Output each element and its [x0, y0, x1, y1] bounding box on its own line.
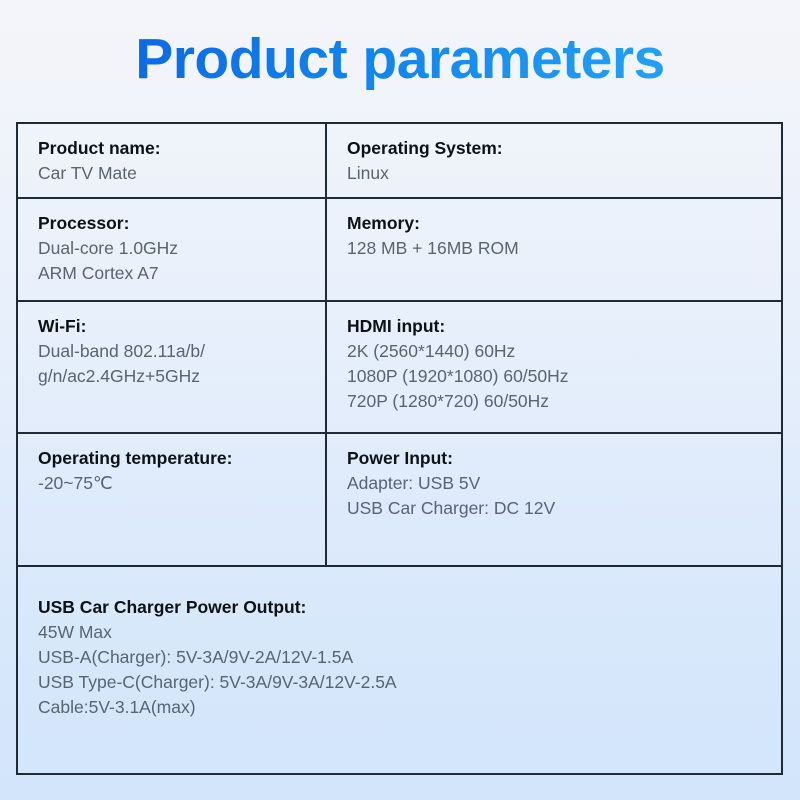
spec-value: -20~75℃ — [38, 471, 325, 496]
spec-value: Dual-core 1.0GHz — [38, 236, 325, 261]
spec-cell-hdmi-input: HDMI input: 2K (2560*1440) 60Hz 1080P (1… — [327, 302, 781, 432]
spec-cell-operating-system: Operating System: Linux — [327, 124, 781, 197]
spec-label: Operating System: — [347, 136, 781, 161]
page-title-container: Product parameters — [0, 30, 800, 90]
table-row: Processor: Dual-core 1.0GHz ARM Cortex A… — [18, 199, 781, 302]
spec-label: USB Car Charger Power Output: — [38, 595, 781, 620]
spec-cell-power-input: Power Input: Adapter: USB 5V USB Car Cha… — [327, 434, 781, 565]
page-title: Product parameters — [135, 30, 665, 90]
spec-value: Cable:5V-3.1A(max) — [38, 695, 781, 720]
spec-value: USB Type-C(Charger): 5V-3A/9V-3A/12V-2.5… — [38, 670, 781, 695]
spec-value: Dual-band 802.11a/b/ — [38, 339, 325, 364]
spec-value: 45W Max — [38, 620, 781, 645]
spec-value: Adapter: USB 5V — [347, 471, 781, 496]
spec-value: 128 MB + 16MB ROM — [347, 236, 781, 261]
table-row: USB Car Charger Power Output: 45W Max US… — [18, 567, 781, 773]
spec-label: Product name: — [38, 136, 325, 161]
spec-value: g/n/ac2.4GHz+5GHz — [38, 364, 325, 389]
table-row: Wi-Fi: Dual-band 802.11a/b/ g/n/ac2.4GHz… — [18, 302, 781, 434]
spec-value: Linux — [347, 161, 781, 186]
spec-cell-product-name: Product name: Car TV Mate — [18, 124, 327, 197]
spec-value: ARM Cortex A7 — [38, 261, 325, 286]
spec-value: USB-A(Charger): 5V-3A/9V-2A/12V-1.5A — [38, 645, 781, 670]
spec-label: HDMI input: — [347, 314, 781, 339]
spec-label: Memory: — [347, 211, 781, 236]
spec-label: Power Input: — [347, 446, 781, 471]
product-parameters-table: Product name: Car TV Mate Operating Syst… — [16, 122, 783, 775]
spec-label: Operating temperature: — [38, 446, 325, 471]
table-row: Product name: Car TV Mate Operating Syst… — [18, 124, 781, 199]
spec-value: 2K (2560*1440) 60Hz — [347, 339, 781, 364]
spec-label: Wi-Fi: — [38, 314, 325, 339]
spec-cell-usb-car-charger-power-output: USB Car Charger Power Output: 45W Max US… — [18, 567, 781, 773]
spec-value: Car TV Mate — [38, 161, 325, 186]
spec-value: USB Car Charger: DC 12V — [347, 496, 781, 521]
table-row: Operating temperature: -20~75℃ Power Inp… — [18, 434, 781, 567]
spec-cell-operating-temperature: Operating temperature: -20~75℃ — [18, 434, 327, 565]
spec-cell-memory: Memory: 128 MB + 16MB ROM — [327, 199, 781, 300]
spec-value: 720P (1280*720) 60/50Hz — [347, 389, 781, 414]
spec-cell-wifi: Wi-Fi: Dual-band 802.11a/b/ g/n/ac2.4GHz… — [18, 302, 327, 432]
spec-label: Processor: — [38, 211, 325, 236]
spec-value: 1080P (1920*1080) 60/50Hz — [347, 364, 781, 389]
spec-cell-processor: Processor: Dual-core 1.0GHz ARM Cortex A… — [18, 199, 327, 300]
